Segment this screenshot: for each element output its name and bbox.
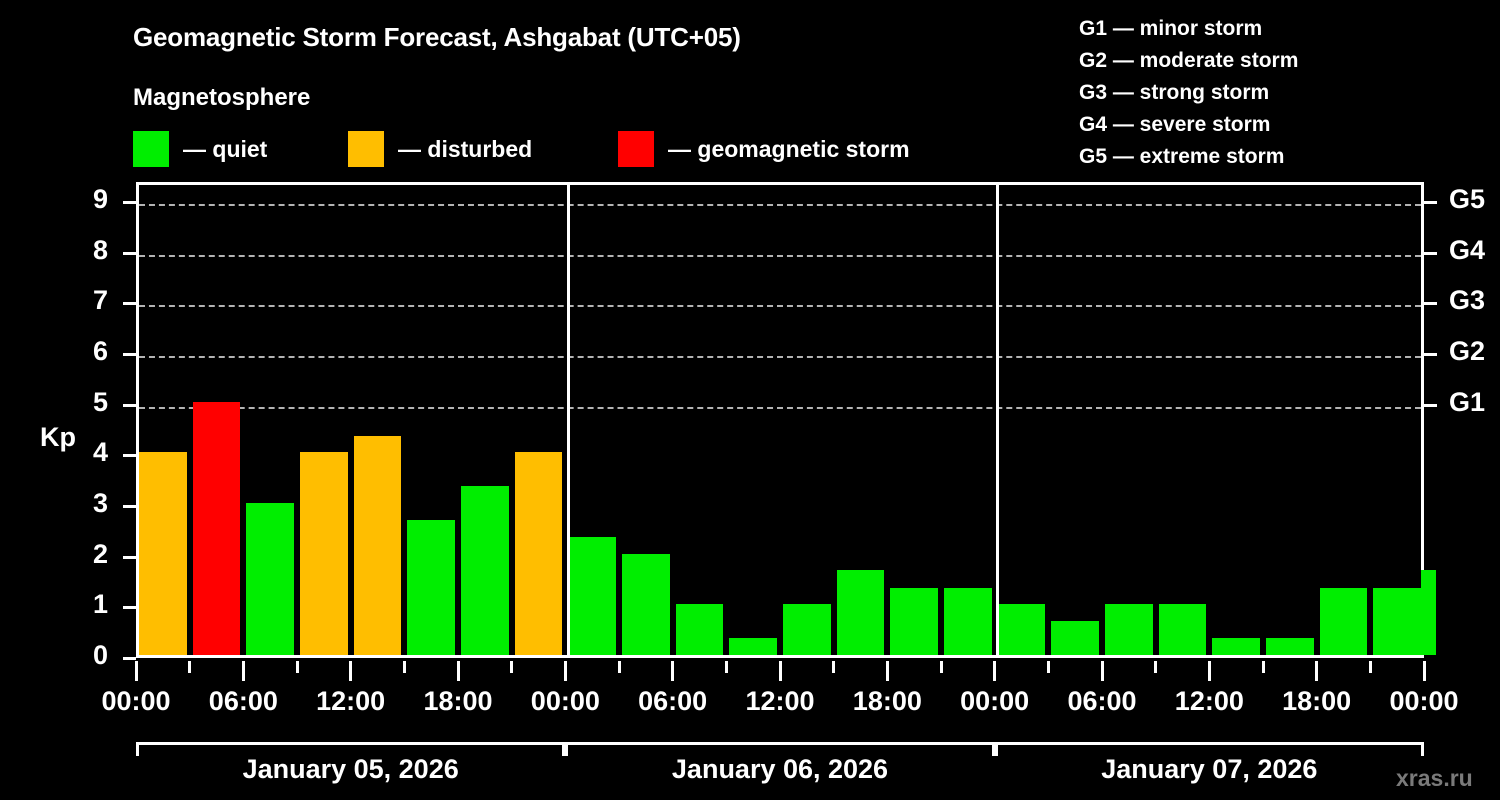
y-tick-1 bbox=[123, 606, 136, 609]
g-tick-G5 bbox=[1424, 201, 1437, 204]
x-tick-6 bbox=[457, 661, 460, 681]
x-tick-label-10: 12:00 bbox=[1175, 686, 1244, 717]
x-tick-label-11: 18:00 bbox=[1282, 686, 1351, 717]
gridline-kp-7 bbox=[139, 305, 1421, 307]
bar bbox=[193, 402, 241, 655]
bar bbox=[515, 452, 563, 655]
y-axis-title: Kp bbox=[40, 422, 76, 453]
x-tick-3 bbox=[296, 661, 299, 673]
date-label-2: January 06, 2026 bbox=[672, 754, 888, 785]
chart-root: Geomagnetic Storm Forecast, Ashgabat (UT… bbox=[0, 0, 1500, 800]
gridline-kp-6 bbox=[139, 356, 1421, 358]
x-tick-label-4: 00:00 bbox=[531, 686, 600, 717]
y-tick-label-5: 5 bbox=[68, 387, 108, 418]
gridline-kp-5 bbox=[139, 407, 1421, 409]
bar bbox=[1212, 638, 1260, 655]
x-tick-2 bbox=[242, 661, 245, 681]
bar bbox=[354, 436, 402, 655]
bar bbox=[622, 554, 670, 655]
date-label-3: January 07, 2026 bbox=[1101, 754, 1317, 785]
y-tick-label-0: 0 bbox=[68, 640, 108, 671]
x-tick-label-3: 18:00 bbox=[423, 686, 492, 717]
g-scale-line-4: G4 — severe storm bbox=[1079, 109, 1298, 141]
legend-label-geomagnetic-storm: — geomagnetic storm bbox=[668, 136, 910, 163]
x-tick-label-0: 00:00 bbox=[101, 686, 170, 717]
y-tick-0 bbox=[123, 657, 136, 660]
legend-swatch-geomagnetic-storm bbox=[618, 131, 654, 167]
x-tick-label-7: 18:00 bbox=[853, 686, 922, 717]
x-tick-16 bbox=[993, 661, 996, 681]
x-tick-22 bbox=[1315, 661, 1318, 681]
bar bbox=[1373, 588, 1421, 655]
legend-swatch-disturbed bbox=[348, 131, 384, 167]
y-tick-label-8: 8 bbox=[68, 235, 108, 266]
date-label-1: January 05, 2026 bbox=[243, 754, 459, 785]
x-tick-label-5: 06:00 bbox=[638, 686, 707, 717]
g-axis-label-G1: G1 bbox=[1449, 387, 1499, 418]
y-tick-label-2: 2 bbox=[68, 539, 108, 570]
g-axis-label-G4: G4 bbox=[1449, 235, 1499, 266]
x-tick-20 bbox=[1208, 661, 1211, 681]
bar bbox=[246, 503, 294, 655]
x-tick-label-6: 12:00 bbox=[745, 686, 814, 717]
watermark: xras.ru bbox=[1396, 765, 1473, 792]
gridline-kp-8 bbox=[139, 255, 1421, 257]
y-tick-2 bbox=[123, 556, 136, 559]
g-tick-G4 bbox=[1424, 252, 1437, 255]
bar bbox=[300, 452, 348, 655]
g-tick-G3 bbox=[1424, 302, 1437, 305]
g-scale-legend: G1 — minor stormG2 — moderate stormG3 — … bbox=[1079, 13, 1298, 173]
legend-item-geomagnetic-storm: — geomagnetic storm bbox=[618, 131, 910, 167]
y-tick-label-9: 9 bbox=[68, 184, 108, 215]
y-tick-5 bbox=[123, 404, 136, 407]
legend-swatch-quiet bbox=[133, 131, 169, 167]
x-tick-label-9: 06:00 bbox=[1067, 686, 1136, 717]
x-tick-24 bbox=[1423, 661, 1426, 681]
bar bbox=[729, 638, 777, 655]
x-tick-label-8: 00:00 bbox=[960, 686, 1029, 717]
bar bbox=[676, 604, 724, 655]
g-scale-line-2: G2 — moderate storm bbox=[1079, 45, 1298, 77]
x-tick-4 bbox=[349, 661, 352, 681]
x-tick-17 bbox=[1047, 661, 1050, 673]
page-title: Geomagnetic Storm Forecast, Ashgabat (UT… bbox=[133, 22, 741, 53]
y-tick-6 bbox=[123, 353, 136, 356]
bar bbox=[837, 570, 885, 655]
g-scale-line-3: G3 — strong storm bbox=[1079, 77, 1298, 109]
bar bbox=[568, 537, 616, 655]
g-axis-label-G3: G3 bbox=[1449, 285, 1499, 316]
x-tick-10 bbox=[671, 661, 674, 681]
bar-partial bbox=[1421, 570, 1436, 655]
x-tick-9 bbox=[618, 661, 621, 673]
bar bbox=[1159, 604, 1207, 655]
bar bbox=[1051, 621, 1099, 655]
bar bbox=[998, 604, 1046, 655]
plot-area bbox=[136, 182, 1424, 658]
x-tick-23 bbox=[1369, 661, 1372, 673]
g-axis-label-G5: G5 bbox=[1449, 184, 1499, 215]
x-tick-label-2: 12:00 bbox=[316, 686, 385, 717]
y-tick-3 bbox=[123, 505, 136, 508]
y-tick-4 bbox=[123, 454, 136, 457]
y-tick-8 bbox=[123, 252, 136, 255]
x-tick-5 bbox=[403, 661, 406, 673]
x-tick-18 bbox=[1101, 661, 1104, 681]
g-tick-G2 bbox=[1424, 353, 1437, 356]
y-tick-label-3: 3 bbox=[68, 488, 108, 519]
y-tick-label-6: 6 bbox=[68, 336, 108, 367]
x-tick-1 bbox=[188, 661, 191, 673]
legend-item-disturbed: — disturbed bbox=[348, 131, 532, 167]
x-tick-13 bbox=[832, 661, 835, 673]
gridline-kp-9 bbox=[139, 204, 1421, 206]
chart-subtitle: Magnetosphere bbox=[133, 84, 310, 112]
x-tick-7 bbox=[510, 661, 513, 673]
day-separator-2 bbox=[996, 185, 999, 655]
bar bbox=[890, 588, 938, 655]
y-tick-9 bbox=[123, 201, 136, 204]
x-tick-label-1: 06:00 bbox=[209, 686, 278, 717]
bar bbox=[1266, 638, 1314, 655]
legend-item-quiet: — quiet bbox=[133, 131, 267, 167]
bar bbox=[944, 588, 992, 655]
g-axis-label-G2: G2 bbox=[1449, 336, 1499, 367]
bar bbox=[1320, 588, 1368, 655]
day-separator-1 bbox=[567, 185, 570, 655]
x-tick-11 bbox=[725, 661, 728, 673]
x-tick-label-12: 00:00 bbox=[1389, 686, 1458, 717]
legend-label-disturbed: — disturbed bbox=[398, 136, 532, 163]
legend-label-quiet: — quiet bbox=[183, 136, 267, 163]
g-scale-line-5: G5 — extreme storm bbox=[1079, 141, 1298, 173]
bar bbox=[783, 604, 831, 655]
g-tick-G1 bbox=[1424, 404, 1437, 407]
bar bbox=[1105, 604, 1153, 655]
x-tick-21 bbox=[1262, 661, 1265, 673]
bar bbox=[407, 520, 455, 655]
bar bbox=[139, 452, 187, 655]
g-scale-line-1: G1 — minor storm bbox=[1079, 13, 1298, 45]
x-tick-12 bbox=[779, 661, 782, 681]
x-tick-14 bbox=[886, 661, 889, 681]
y-tick-7 bbox=[123, 302, 136, 305]
x-tick-0 bbox=[135, 661, 138, 681]
y-tick-label-1: 1 bbox=[68, 589, 108, 620]
x-tick-19 bbox=[1154, 661, 1157, 673]
x-tick-15 bbox=[940, 661, 943, 673]
y-tick-label-7: 7 bbox=[68, 285, 108, 316]
bar bbox=[461, 486, 509, 655]
x-tick-8 bbox=[564, 661, 567, 681]
